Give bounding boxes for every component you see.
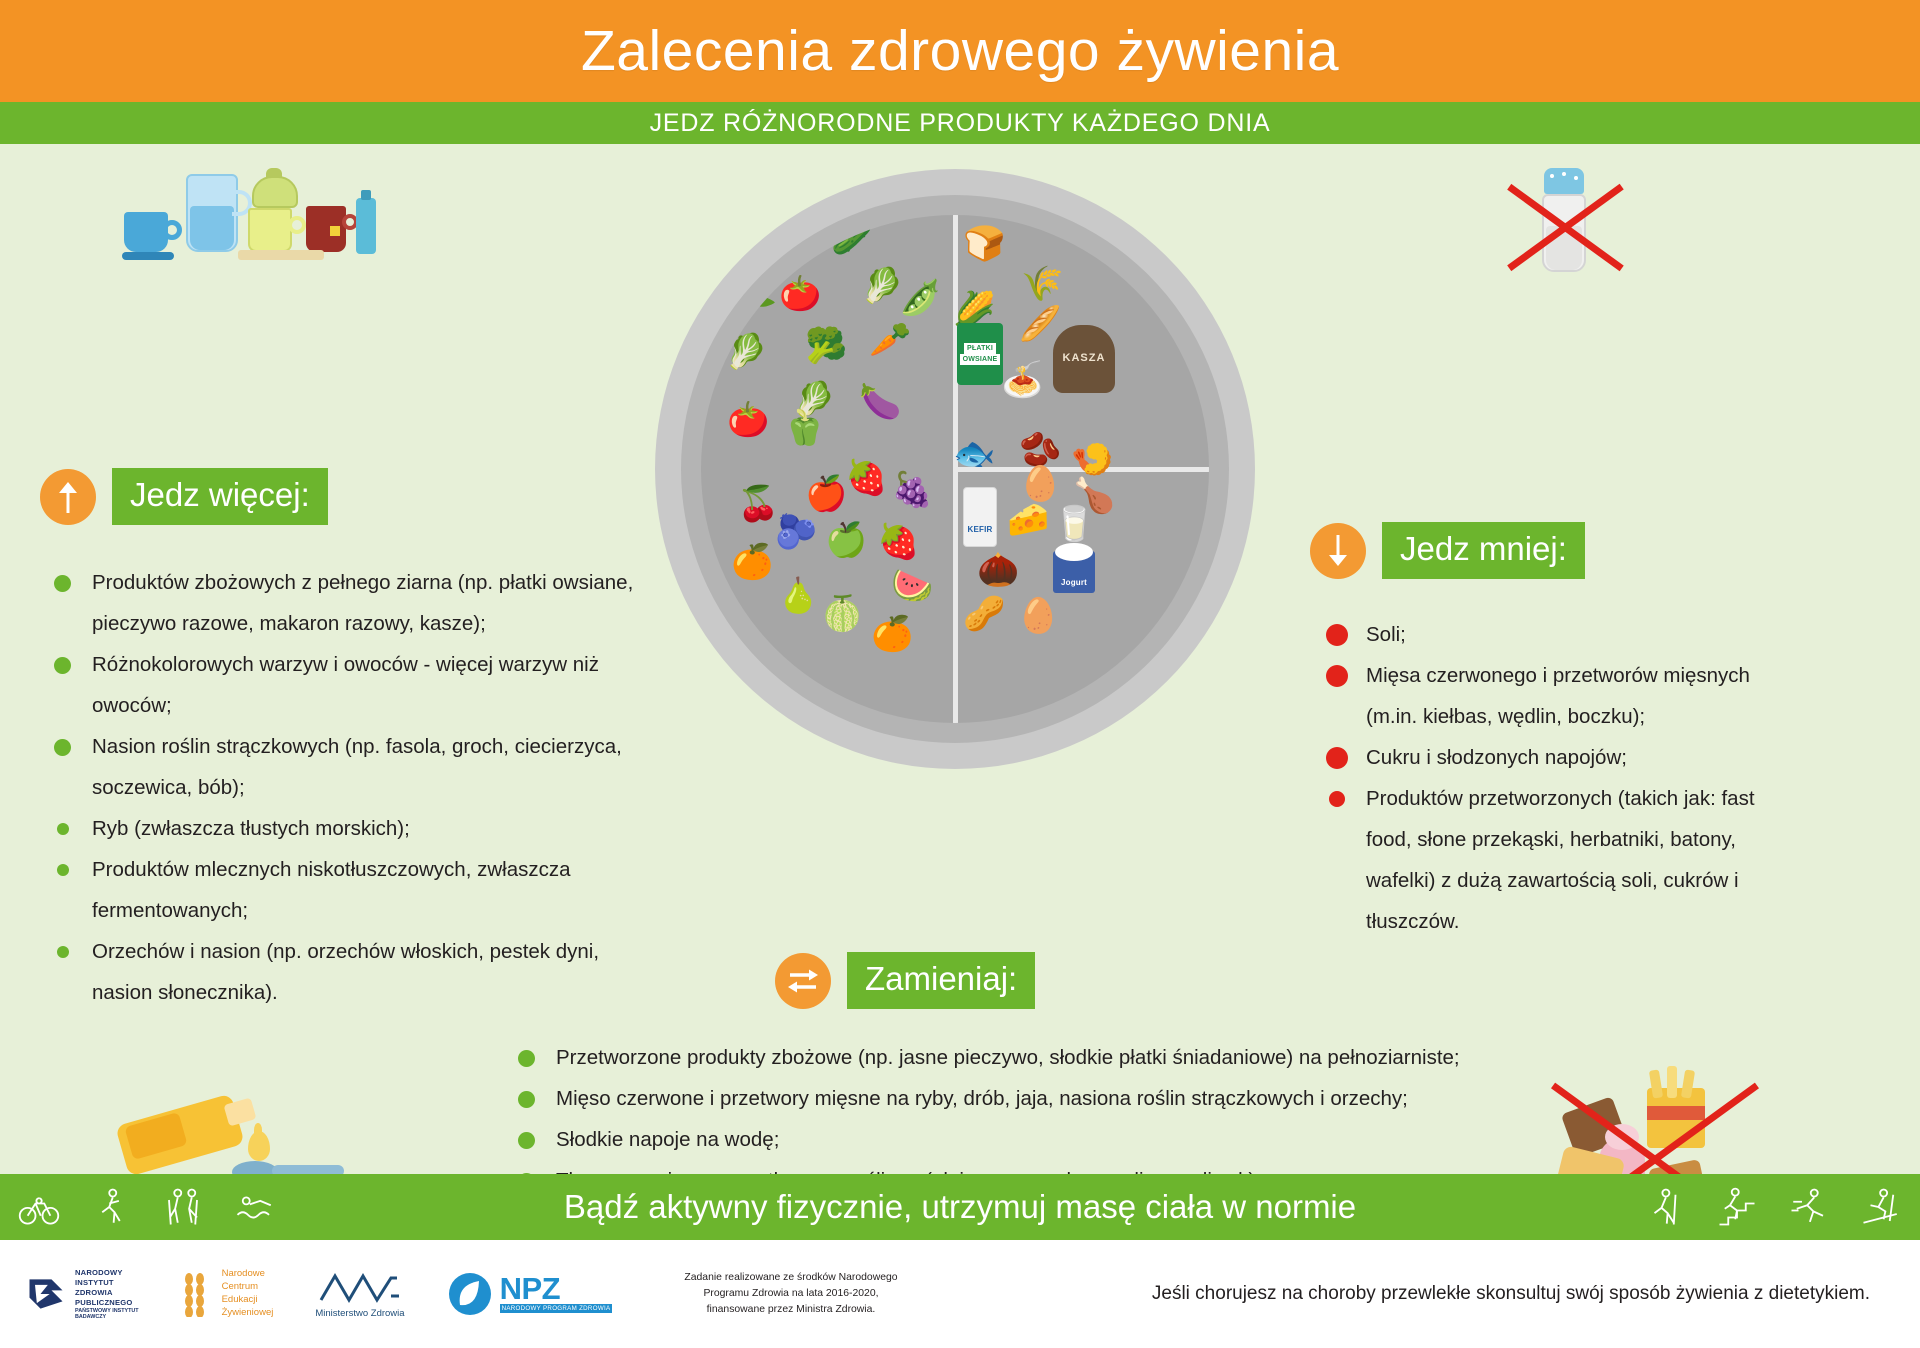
swap-label: Zamieniaj: — [847, 952, 1035, 1009]
mz-zigzag-icon — [317, 1270, 403, 1304]
stairs-icon — [1716, 1186, 1758, 1228]
activity-icons-right — [1644, 1186, 1902, 1228]
swap-heading: Zamieniaj: — [775, 952, 1035, 1009]
food-fish: 🐟 — [953, 437, 995, 471]
arrow-up-icon — [40, 469, 96, 525]
ministerstwo-zdrowia-logo: Ministerstwo Zdrowia — [315, 1270, 404, 1319]
bullet-dot — [54, 739, 71, 756]
healthy-plate-graphic: 🥒 🍅 🥬 🌿 🥦 🥕 🫛 🥬 🥬 🍆 🍅 🫑 🍎 🍓 🍇 🍒 🫐 🍏 🍓 — [655, 169, 1255, 769]
grant-line1: Zadanie realizowane ze środków Narodoweg… — [684, 1270, 897, 1286]
eat-less-label: Jedz mniej: — [1382, 522, 1585, 579]
pzh-sub2: BADAWCZY — [75, 1314, 139, 1320]
list-item-text: Cukru i słodzonych napojów; — [1366, 746, 1627, 769]
ncez-line2: Centrum — [222, 1281, 274, 1294]
food-green-grapes: 🍈 — [821, 597, 863, 631]
poster-root: Zalecenia zdrowego żywienia JEDZ RÓŻNORO… — [0, 0, 1920, 1348]
list-item: Słodkie napoje na wodę; — [510, 1119, 1570, 1160]
bullet-dot — [57, 946, 69, 958]
pzh-line1: NARODOWY — [75, 1268, 139, 1278]
bullet-dot — [57, 864, 69, 876]
list-item-text: Ryb (zwłaszcza tłustych morskich); — [92, 817, 410, 840]
ncez-line4: Żywieniowej — [222, 1307, 274, 1320]
oil-bottle-spoon-icon — [120, 1099, 350, 1174]
swap-arrows-icon — [775, 953, 831, 1009]
list-item-text: Przetworzone produkty zbożowe (np. jasne… — [556, 1046, 1460, 1069]
yogurt-cup: Jogurt — [1053, 551, 1095, 593]
list-item: Mięsa czerwonego i przetworów mięsnych (… — [1320, 655, 1790, 737]
food-apple: 🍎 — [805, 477, 847, 511]
running-icon — [1788, 1186, 1830, 1228]
food-nuts: 🌰 — [977, 553, 1019, 587]
food-broccoli: 🥦 — [805, 329, 847, 363]
food-strawberry: 🍓 — [877, 525, 919, 559]
food-shrimp: 🍤 — [1071, 443, 1113, 477]
food-orange: 🍊 — [871, 617, 913, 651]
list-item: Przetworzone produkty zbożowe (np. jasne… — [510, 1037, 1570, 1078]
food-tomato-slice: 🍅 — [779, 277, 821, 311]
list-item: Produktów mlecznych niskotłuszczowych, z… — [46, 849, 646, 931]
eat-more-heading: Jedz więcej: — [40, 468, 328, 525]
swap-list: Przetworzone produkty zbożowe (np. jasne… — [510, 1037, 1570, 1174]
page-title: Zalecenia zdrowego żywienia — [581, 23, 1339, 80]
footer-logos: NARODOWY INSTYTUT ZDROWIA PUBLICZNEGO PA… — [24, 1268, 898, 1320]
cycling-icon — [18, 1186, 60, 1228]
food-cheese: 🧀 — [1007, 503, 1049, 537]
wheat-ears-icon — [181, 1271, 215, 1317]
ncez-logo-text: Narodowe Centrum Edukacji Żywieniowej — [222, 1268, 274, 1319]
kefir-carton: KEFIR — [963, 487, 997, 547]
food-bread-loaf: 🍞 — [963, 227, 1005, 261]
ncez-line3: Edukacji — [222, 1294, 274, 1307]
hiking-icon — [1644, 1186, 1686, 1228]
food-watermelon: 🍉 — [891, 569, 933, 603]
food-walnut: 🥜 — [963, 597, 1005, 631]
food-bread-roll: 🥖 — [1019, 307, 1061, 341]
skiing-icon — [1860, 1186, 1902, 1228]
list-item-text: Soli; — [1366, 623, 1406, 646]
bullet-dot-red — [1326, 747, 1348, 769]
list-item: Ryb (zwłaszcza tłustych morskich); — [46, 808, 646, 849]
food-blueberries: 🫐 — [775, 515, 817, 549]
footer-disclaimer: Jeśli chorujesz na choroby przewlekłe sk… — [1152, 1283, 1896, 1305]
pzh-logo-text: NARODOWY INSTYTUT ZDROWIA PUBLICZNEGO PA… — [75, 1268, 139, 1320]
arrow-down-icon — [1310, 523, 1366, 579]
pzh-logo-mark — [24, 1272, 68, 1316]
food-carrot: 🥕 — [869, 323, 911, 357]
pzh-line3: ZDROWIA — [75, 1288, 139, 1298]
food-pea-pod: 🫛 — [899, 281, 941, 315]
food-cabbage: 🥬 — [725, 335, 767, 369]
eat-more-list: Produktów zbożowych z pełnego ziarna (np… — [46, 562, 646, 1013]
oats-package: PŁATKI OWSIANE — [957, 323, 1003, 385]
footer-bar: NARODOWY INSTYTUT ZDROWIA PUBLICZNEGO PA… — [0, 1240, 1920, 1348]
food-tomato: 🍅 — [727, 403, 769, 437]
food-cauliflower: 🥬 — [861, 269, 903, 303]
list-item: Tłuszcze zwierzęce na tłuszcze roślinne … — [510, 1160, 1570, 1174]
list-item-text: Produktów mlecznych niskotłuszczowych, z… — [92, 858, 571, 922]
walking-icon — [90, 1186, 132, 1228]
activity-text: Bądź aktywny fizycznie, utrzymuj masę ci… — [564, 1188, 1356, 1226]
food-cherry: 🍒 — [737, 487, 779, 521]
list-item-text: Produktów zbożowych z pełnego ziarna (np… — [92, 571, 633, 635]
pzh-line4: PUBLICZNEGO — [75, 1298, 139, 1308]
food-orange-slice: 🍊 — [731, 545, 773, 579]
mz-caption: Ministerstwo Zdrowia — [315, 1308, 404, 1319]
npz-caption: NPZ — [500, 1275, 613, 1304]
ncez-line1: Narodowe — [222, 1268, 274, 1281]
eat-more-label: Jedz więcej: — [112, 468, 328, 525]
food-bell-pepper: 🫑 — [783, 411, 825, 445]
pzh-line2: INSTYTUT — [75, 1278, 139, 1288]
swimming-icon — [234, 1186, 276, 1228]
pzh-logo: NARODOWY INSTYTUT ZDROWIA PUBLICZNEGO PA… — [24, 1268, 139, 1320]
list-item-text: Różnokolorowych warzyw i owoców - więcej… — [92, 653, 599, 717]
npz-sub: NARODOWY PROGRAM ZDROWIA — [500, 1304, 613, 1313]
list-item: Cukru i słodzonych napojów; — [1320, 737, 1790, 778]
list-item: Mięso czerwone i przetwory mięsne na ryb… — [510, 1078, 1570, 1119]
header-subtitle-bar: JEDZ RÓŻNORODNE PRODUKTY KAŻDEGO DNIA — [0, 102, 1920, 144]
list-item: Soli; — [1320, 614, 1790, 655]
list-item-text: Mięso czerwone i przetwory mięsne na ryb… — [556, 1087, 1408, 1110]
list-item-text: Słodkie napoje na wodę; — [556, 1128, 779, 1151]
bullet-dot — [54, 575, 71, 592]
nordic-walking-icon — [162, 1186, 204, 1228]
food-flour-pile: 🌽 — [953, 293, 995, 327]
drinks-icon — [120, 164, 370, 284]
groats-sack: KASZA — [1053, 325, 1115, 393]
page-subtitle: JEDZ RÓŻNORODNE PRODUKTY KAŻDEGO DNIA — [650, 109, 1271, 138]
grant-line3: finansowane przez Ministra Zdrowia. — [684, 1302, 897, 1318]
list-item-text: Tłuszcze zwierzęce na tłuszcze roślinne … — [556, 1169, 1261, 1174]
ncez-logo: Narodowe Centrum Edukacji Żywieniowej — [181, 1268, 274, 1319]
food-green-apple: 🍏 — [825, 523, 867, 557]
junk-food-forbidden-icon — [1555, 1084, 1755, 1174]
npz-logo: NPZ NARODOWY PROGRAM ZDROWIA — [447, 1271, 613, 1317]
bullet-dot-red — [1326, 624, 1348, 646]
food-milk-glass: 🥛 — [1053, 507, 1095, 541]
bullet-dot — [518, 1050, 535, 1067]
list-item-text: Produktów przetworzonych (takich jak: fa… — [1366, 787, 1755, 933]
salt-shaker-forbidden-icon — [1510, 164, 1620, 289]
grant-line2: Programu Zdrowia na lata 2016-2020, — [684, 1286, 897, 1302]
food-leafy-green: 🌿 — [735, 275, 777, 309]
bullet-dot — [518, 1132, 535, 1149]
oats-label-line2: OWSIANE — [960, 354, 1001, 365]
list-item: Produktów zbożowych z pełnego ziarna (np… — [46, 562, 646, 644]
bullet-dot-red — [1326, 665, 1348, 687]
food-beans: 🫘 — [1019, 433, 1061, 467]
food-pasta-tubes: 🌾 — [1021, 267, 1063, 301]
list-item: Produktów przetworzonych (takich jak: fa… — [1320, 778, 1790, 942]
list-item: Orzechów i nasion (np. orzechów włoskich… — [46, 931, 646, 1013]
npz-leaf-icon — [447, 1271, 493, 1317]
eat-less-heading: Jedz mniej: — [1310, 522, 1585, 579]
plate-inner: 🥒 🍅 🥬 🌿 🥦 🥕 🫛 🥬 🥬 🍆 🍅 🫑 🍎 🍓 🍇 🍒 🫐 🍏 🍓 — [701, 215, 1209, 723]
food-pear: 🍐 — [777, 579, 819, 613]
bullet-dot — [54, 657, 71, 674]
list-item: Różnokolorowych warzyw i owoców - więcej… — [46, 644, 646, 726]
eat-less-list: Soli; Mięsa czerwonego i przetworów mięs… — [1320, 614, 1790, 942]
npz-logo-text: NPZ NARODOWY PROGRAM ZDROWIA — [500, 1275, 613, 1313]
oats-label-line1: PŁATKI — [964, 343, 996, 354]
activity-banner: Bądź aktywny fizycznie, utrzymuj masę ci… — [0, 1174, 1920, 1240]
poster-body: 🥒 🍅 🥬 🌿 🥦 🥕 🫛 🥬 🥬 🍆 🍅 🫑 🍎 🍓 🍇 🍒 🫐 🍏 🍓 — [0, 144, 1920, 1174]
food-eggs-pile: 🥚 — [1019, 467, 1061, 501]
list-item-text: Orzechów i nasion (np. orzechów włoskich… — [92, 940, 599, 1004]
food-brown-pasta: 🍝 — [1001, 363, 1043, 397]
list-item-text: Mięsa czerwonego i przetworów mięsnych (… — [1366, 664, 1750, 728]
bullet-dot-red — [1329, 791, 1345, 807]
bullet-dot — [57, 823, 69, 835]
grant-note: Zadanie realizowane ze środków Narodoweg… — [684, 1270, 897, 1318]
bullet-dot — [518, 1173, 535, 1174]
list-item-text: Nasion roślin strączkowych (np. fasola, … — [92, 735, 622, 799]
list-item: Nasion roślin strączkowych (np. fasola, … — [46, 726, 646, 808]
header-title-bar: Zalecenia zdrowego żywienia — [0, 0, 1920, 102]
activity-icons-left — [18, 1186, 276, 1228]
food-berries: 🍓 — [845, 461, 887, 495]
bullet-dot — [518, 1091, 535, 1108]
food-eggplant: 🍆 — [859, 385, 901, 419]
food-cucumber: 🥒 — [831, 221, 873, 255]
food-boiled-egg: 🥚 — [1017, 599, 1059, 633]
food-grapes: 🍇 — [891, 473, 933, 507]
